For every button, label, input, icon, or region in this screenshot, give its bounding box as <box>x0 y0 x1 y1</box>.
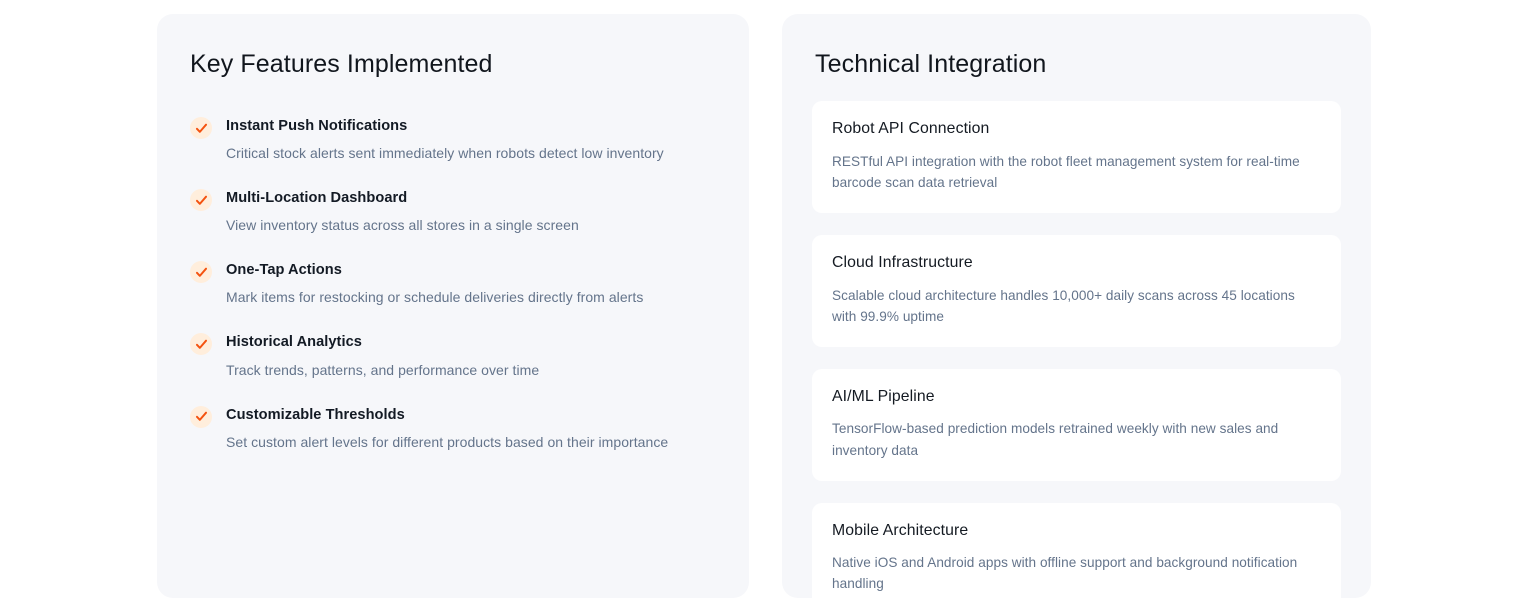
integration-card-description: Native iOS and Android apps with offline… <box>832 540 1310 594</box>
check-icon <box>190 406 212 428</box>
check-icon <box>190 333 212 355</box>
integration-card-list: Robot API Connection RESTful API integra… <box>812 101 1341 614</box>
feature-title: Multi-Location Dashboard <box>226 177 729 207</box>
integration-card: AI/ML Pipeline TensorFlow-based predicti… <box>812 369 1341 481</box>
feature-description: Track trends, patterns, and performance … <box>226 352 729 380</box>
integration-card: Cloud Infrastructure Scalable cloud arch… <box>812 235 1341 347</box>
integration-card-title: AI/ML Pipeline <box>832 387 1321 407</box>
list-item: Customizable Thresholds Set custom alert… <box>190 394 729 452</box>
feature-title: One-Tap Actions <box>226 249 729 279</box>
list-item: Multi-Location Dashboard View inventory … <box>190 177 729 235</box>
integration-card-title: Mobile Architecture <box>832 521 1321 541</box>
key-features-panel-title: Key Features Implemented <box>190 49 493 79</box>
list-item: Historical Analytics Track trends, patte… <box>190 321 729 379</box>
integration-card-title: Cloud Infrastructure <box>832 253 1321 273</box>
check-icon <box>190 117 212 139</box>
technical-integration-panel: Technical Integration Robot API Connecti… <box>782 14 1371 598</box>
integration-card-description: TensorFlow-based prediction models retra… <box>832 406 1310 460</box>
feature-list: Instant Push Notifications Critical stoc… <box>190 105 729 452</box>
feature-description: Critical stock alerts sent immediately w… <box>226 135 729 163</box>
feature-title: Instant Push Notifications <box>226 105 729 135</box>
technical-integration-panel-title: Technical Integration <box>815 49 1046 79</box>
feature-title: Historical Analytics <box>226 321 729 351</box>
key-features-panel: Key Features Implemented Instant Push No… <box>157 14 749 598</box>
integration-card: Robot API Connection RESTful API integra… <box>812 101 1341 213</box>
integration-card-description: Scalable cloud architecture handles 10,0… <box>832 273 1310 327</box>
feature-description: Mark items for restocking or schedule de… <box>226 279 729 307</box>
feature-title: Customizable Thresholds <box>226 394 729 424</box>
feature-description: View inventory status across all stores … <box>226 207 729 235</box>
integration-card-title: Robot API Connection <box>832 119 1321 139</box>
list-item: One-Tap Actions Mark items for restockin… <box>190 249 729 307</box>
check-icon <box>190 189 212 211</box>
list-item: Instant Push Notifications Critical stoc… <box>190 105 729 163</box>
check-icon <box>190 261 212 283</box>
page-root: Key Features Implemented Instant Push No… <box>0 0 1528 614</box>
feature-description: Set custom alert levels for different pr… <box>226 424 729 452</box>
integration-card-description: RESTful API integration with the robot f… <box>832 139 1310 193</box>
integration-card: Mobile Architecture Native iOS and Andro… <box>812 503 1341 614</box>
